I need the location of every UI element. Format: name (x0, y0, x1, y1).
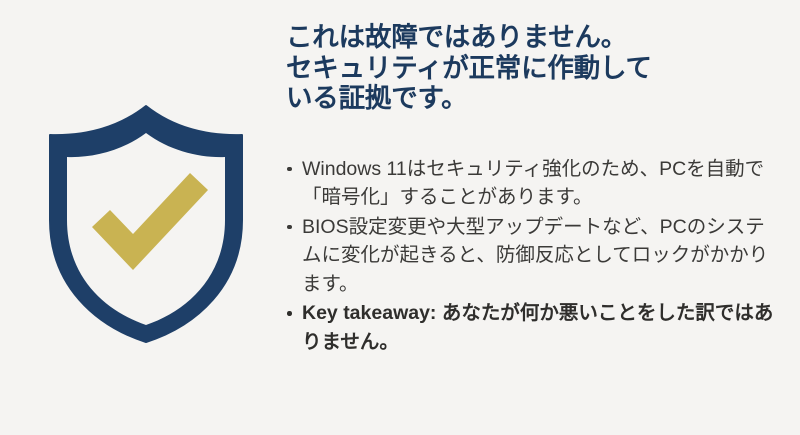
shield-check-illustration (40, 100, 252, 348)
list-item-key-takeaway: Key takeaway: あなたが何か悪いことをした訳ではありません。 (286, 299, 778, 356)
headline-line-1: これは故障ではありません。 (286, 22, 778, 53)
bullet-list: Windows 11はセキュリティ強化のため、PCを自動で「暗号化」することがあ… (286, 155, 778, 357)
list-item: BIOS設定変更や大型アップデートなど、PCのシステムに変化が起きると、防御反応… (286, 213, 778, 299)
list-item-text: Key takeaway: あなたが何か悪いことをした訳ではありません。 (302, 299, 778, 356)
text-column: これは故障ではありません。 セキュリティが正常に作動して いる証拠です。 Win… (286, 22, 778, 357)
slide-canvas: これは故障ではありません。 セキュリティが正常に作動して いる証拠です。 Win… (0, 0, 800, 435)
headline-line-3: いる証拠です。 (286, 83, 778, 114)
list-item: Windows 11はセキュリティ強化のため、PCを自動で「暗号化」することがあ… (286, 155, 778, 212)
list-item-text: Windows 11はセキュリティ強化のため、PCを自動で「暗号化」することがあ… (302, 155, 778, 212)
page-title: これは故障ではありません。 セキュリティが正常に作動して いる証拠です。 (286, 22, 778, 114)
headline-line-2: セキュリティが正常に作動して (286, 53, 778, 84)
list-item-text: BIOS設定変更や大型アップデートなど、PCのシステムに変化が起きると、防御反応… (302, 213, 778, 299)
